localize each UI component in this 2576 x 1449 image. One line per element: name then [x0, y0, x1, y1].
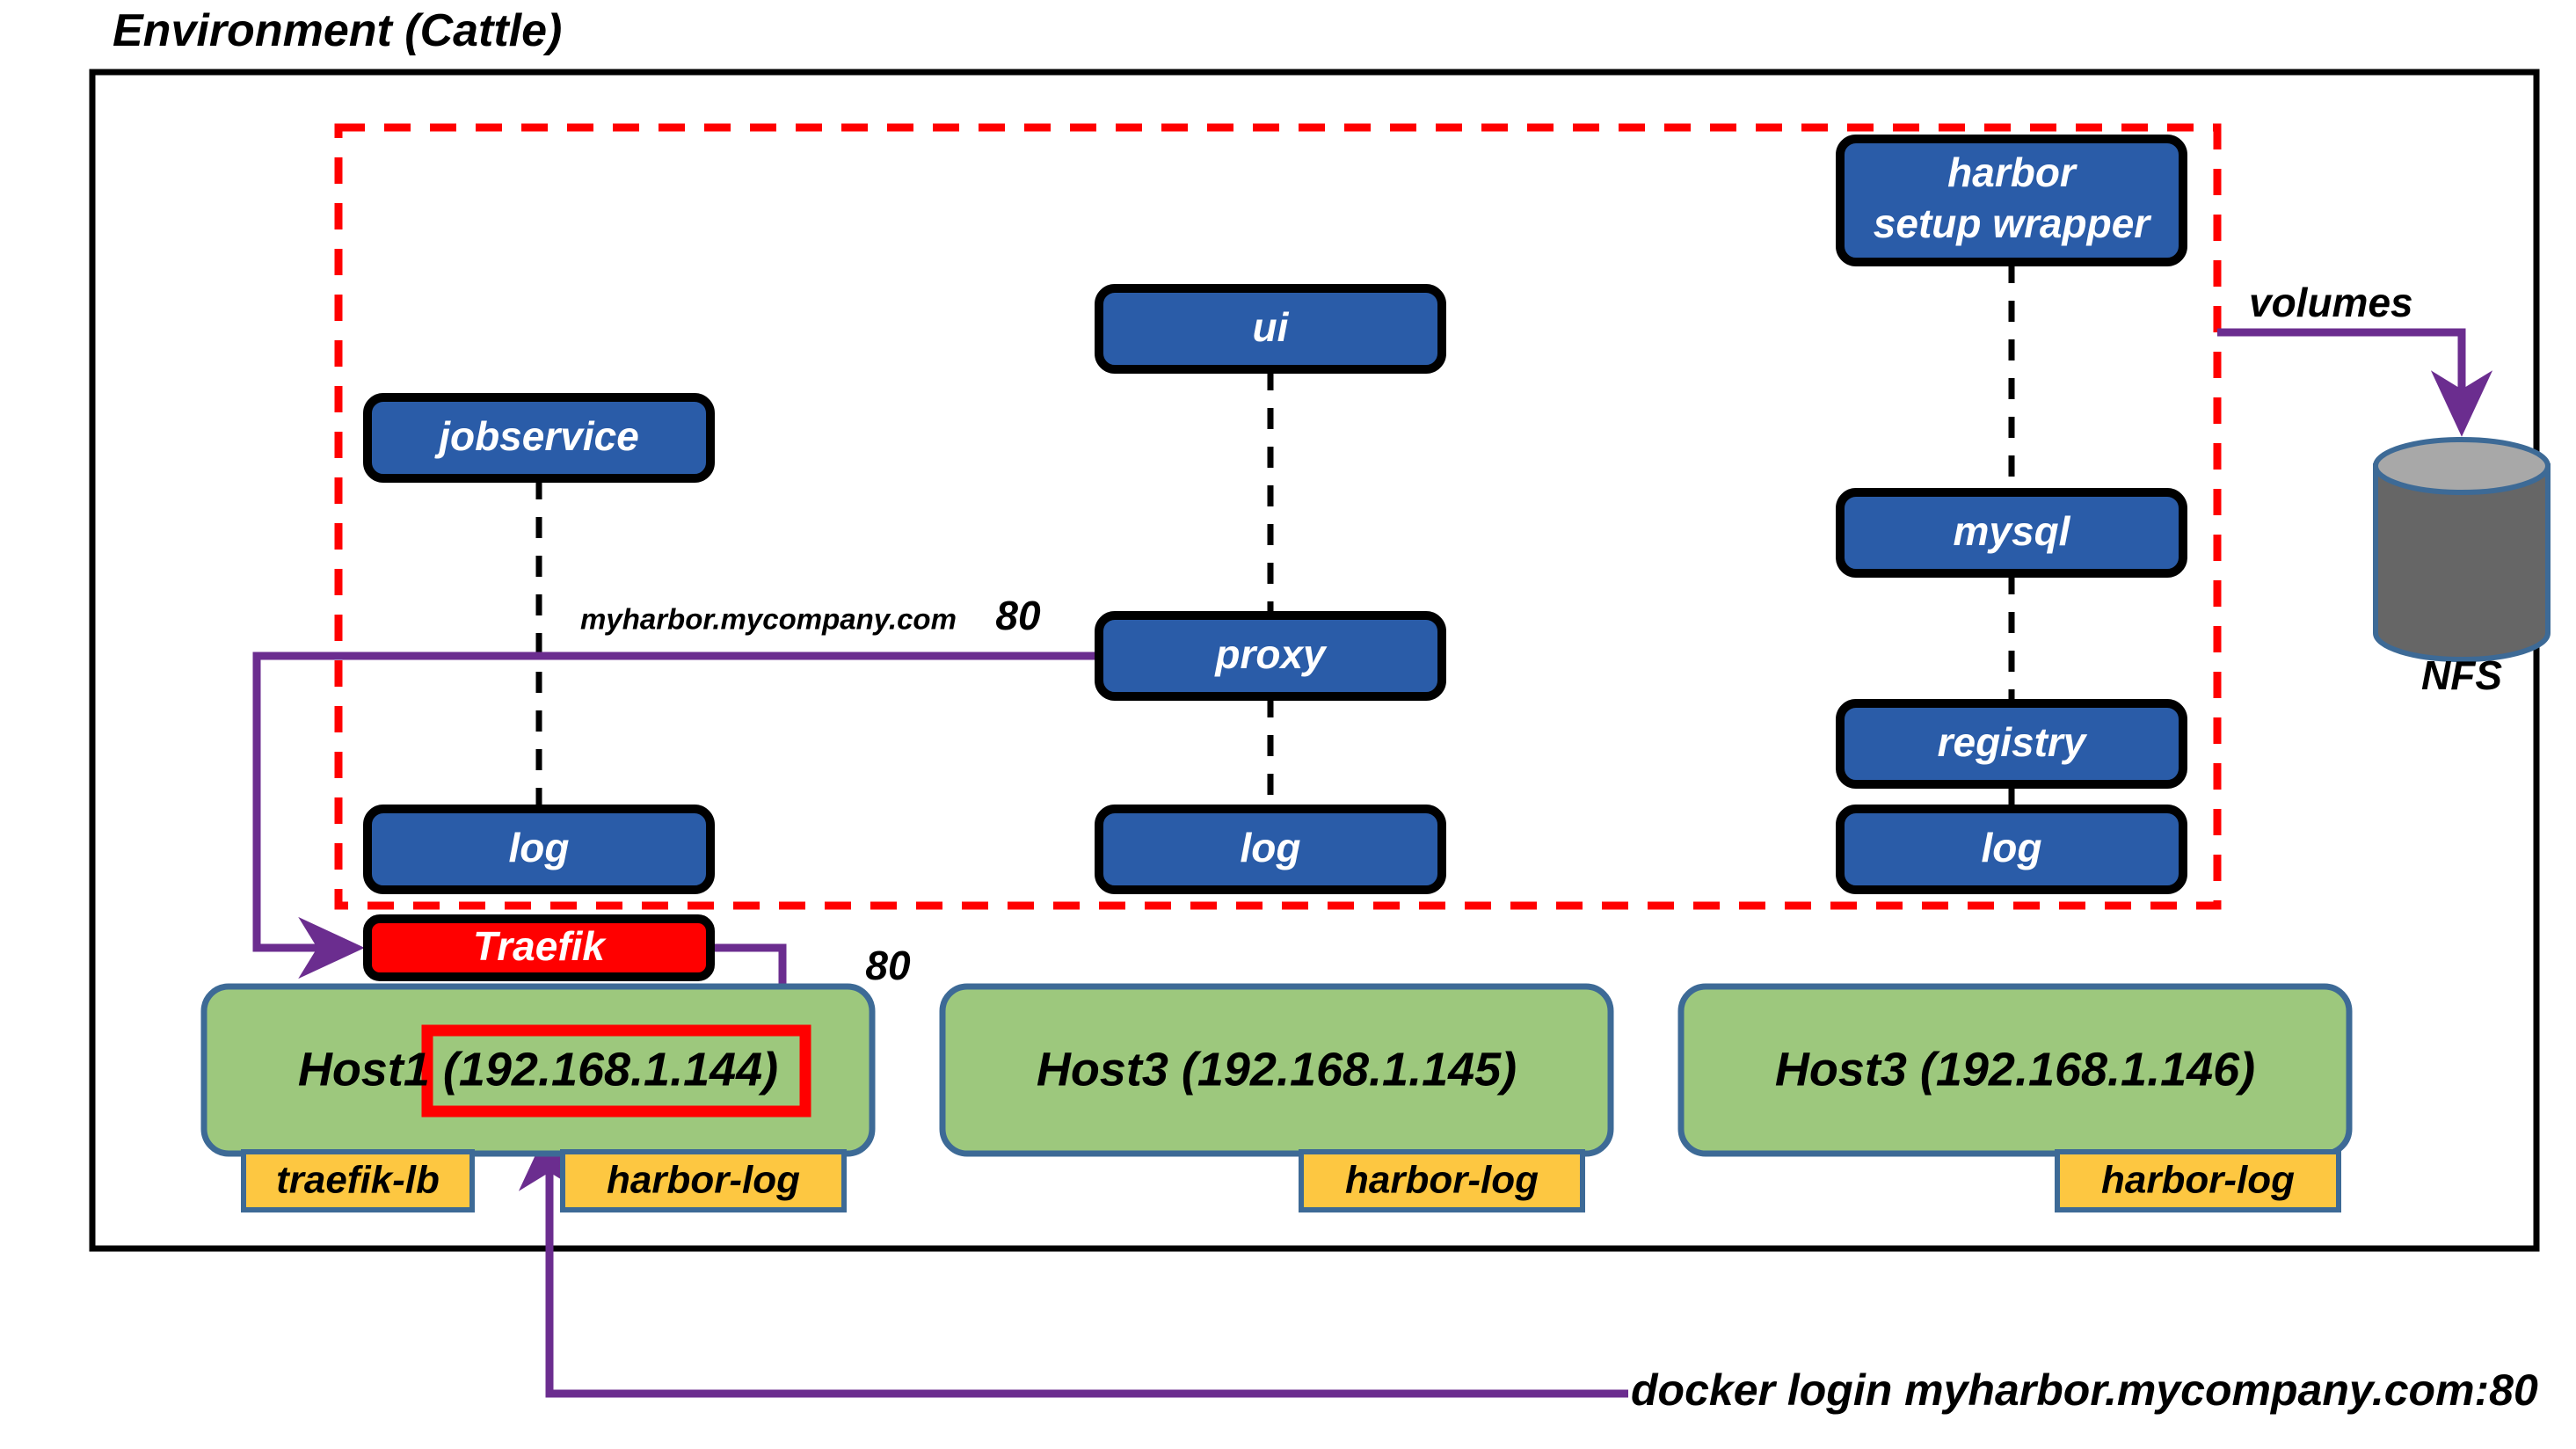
service-label-registry: registry	[1938, 719, 2088, 765]
edge-label-port-proxy: 80	[995, 593, 1041, 638]
edge-label-hostname: myharbor.mycompany.com	[580, 603, 957, 636]
diagram-canvas: Environment (Cattle) jobservice log ui p…	[0, 0, 2576, 1449]
service-label-harbor-setup-wrapper-line2: setup wrapper	[1874, 200, 2152, 246]
traefik-label: Traefik	[473, 923, 607, 969]
service-label-log-left: log	[509, 825, 570, 870]
tag-label-harbor-log-host2: harbor-log	[1345, 1159, 1539, 1202]
docker-login-command-label: docker login myharbor.mycompany.com:80	[1631, 1365, 2538, 1415]
route-volumes-to-nfs	[2217, 332, 2462, 427]
service-label-log-right: log	[1982, 825, 2042, 870]
tag-label-harbor-log-host3: harbor-log	[2101, 1159, 2295, 1202]
service-label-log-mid: log	[1241, 825, 1301, 870]
edge-label-port-traefik: 80	[865, 943, 911, 988]
edge-label-volumes: volumes	[2249, 280, 2413, 325]
host-label-host2: Host3 (192.168.1.145)	[1037, 1043, 1517, 1096]
service-label-ui: ui	[1253, 304, 1290, 350]
nfs-top-ellipse	[2376, 440, 2548, 492]
service-label-proxy: proxy	[1213, 631, 1328, 677]
service-label-harbor-setup-wrapper-line1: harbor	[1947, 149, 2078, 195]
service-label-mysql: mysql	[1954, 508, 2071, 554]
tag-label-harbor-log-host1: harbor-log	[607, 1159, 800, 1202]
nfs-cylinder	[2376, 440, 2548, 659]
nfs-label: NFS	[2421, 652, 2502, 698]
host-label-host1: Host1 (192.168.1.144)	[298, 1043, 778, 1096]
environment-title: Environment (Cattle)	[113, 5, 562, 56]
service-label-jobservice: jobservice	[434, 413, 639, 459]
tag-label-traefik-lb: traefik-lb	[276, 1159, 440, 1202]
host-label-host3: Host3 (192.168.1.146)	[1775, 1043, 2255, 1096]
diagram-svg: Environment (Cattle) jobservice log ui p…	[0, 0, 2576, 1449]
